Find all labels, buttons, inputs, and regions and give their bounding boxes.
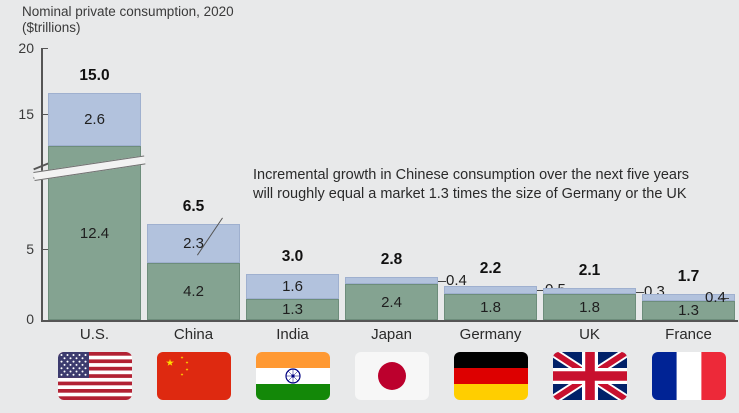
x-axis-line [41, 320, 738, 322]
plot-area: 20 15 5 0 15.0 2.6 12.4 6.5 2.3 4.2 [0, 0, 739, 413]
bar-segment-bottom-uk: 1.8 [543, 294, 636, 320]
bar-segment-top-value-france: 0.4 [705, 289, 726, 306]
bar-total-us: 15.0 [48, 67, 141, 85]
x-tick-label-france: France [642, 326, 735, 343]
y-tick-label-5: 5 [0, 241, 34, 257]
bar-segment-bottom-value-india: 1.3 [282, 301, 303, 318]
bar-group-india: 3.0 1.6 1.3 [246, 274, 339, 320]
x-tick-label-us: U.S. [48, 326, 141, 343]
x-tick-label-india: India [246, 326, 339, 343]
flag-united-kingdom [543, 352, 636, 400]
bar-segment-bottom-china: 4.2 [147, 263, 240, 320]
flag-united-states [48, 352, 141, 400]
y-tick-label-0: 0 [0, 311, 34, 327]
flag-germany [444, 352, 537, 400]
flag-japan [345, 352, 438, 400]
y-tick-label-15: 15 [0, 106, 34, 122]
bar-segment-top-germany [444, 286, 537, 294]
bar-segment-bottom-value-china: 4.2 [183, 283, 204, 300]
flag-india [246, 352, 339, 400]
chart-root: Nominal private consumption, 2020 ($tril… [0, 0, 739, 413]
flag-france [642, 352, 735, 400]
bar-total-uk: 2.1 [543, 262, 636, 280]
x-tick-label-uk: UK [543, 326, 636, 343]
bar-group-us: 15.0 2.6 12.4 [48, 93, 141, 320]
bar-segment-top-japan [345, 277, 438, 284]
bar-segment-bottom-japan: 2.4 [345, 284, 438, 320]
bar-total-germany: 2.2 [444, 260, 537, 278]
bar-segment-bottom-india: 1.3 [246, 299, 339, 320]
bar-segment-bottom-value-uk: 1.8 [579, 299, 600, 316]
y-tick-label-20: 20 [0, 40, 34, 56]
bar-group-germany: 2.2 1.8 [444, 286, 537, 320]
x-tick-label-japan: Japan [345, 326, 438, 343]
y-tick-0 [41, 320, 48, 321]
bar-segment-top-value-us: 2.6 [84, 111, 105, 128]
bar-segment-bottom-value-us: 12.4 [80, 225, 109, 242]
x-tick-label-china: China [147, 326, 240, 343]
bar-segment-top-china: 2.3 [147, 224, 240, 263]
bar-segment-bottom-value-germany: 1.8 [480, 299, 501, 316]
bar-segment-bottom-us: 12.4 [48, 146, 141, 320]
x-tick-label-germany: Germany [444, 326, 537, 343]
bar-total-japan: 2.8 [345, 251, 438, 269]
bar-segment-top-india: 1.6 [246, 274, 339, 299]
flag-china [147, 352, 240, 400]
bar-segment-bottom-germany: 1.8 [444, 294, 537, 320]
bar-segment-bottom-value-japan: 2.4 [381, 294, 402, 311]
bar-total-china: 6.5 [147, 198, 240, 216]
bar-segment-top-us: 2.6 [48, 93, 141, 146]
y-tick-20 [41, 48, 48, 49]
bar-group-uk: 2.1 1.8 [543, 288, 636, 320]
bar-group-japan: 2.8 2.4 [345, 277, 438, 320]
bar-total-india: 3.0 [246, 248, 339, 266]
y-axis-line [41, 48, 43, 321]
bar-total-france: 1.7 [642, 268, 735, 286]
bar-segment-bottom-value-france: 1.3 [678, 302, 699, 319]
leader-line-japan [438, 281, 446, 282]
bar-segment-top-value-india: 1.6 [282, 278, 303, 295]
bar-group-china: 6.5 2.3 4.2 [147, 224, 240, 320]
y-tick-15 [41, 114, 48, 115]
chart-annotation: Incremental growth in Chinese consumptio… [253, 166, 689, 204]
y-tick-5 [41, 249, 48, 250]
